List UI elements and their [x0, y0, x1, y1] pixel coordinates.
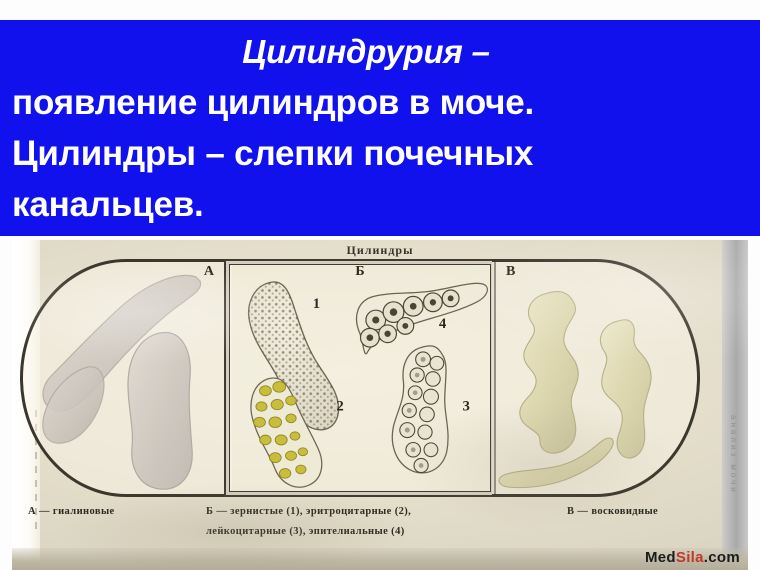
panels-group: А — [28, 259, 688, 497]
panel-c: В — [496, 259, 688, 497]
svg-text:1: 1 — [313, 296, 320, 312]
watermark-part-2: Sila — [676, 549, 704, 566]
scanned-figure: анализ мочи Цилиндры А — [12, 240, 748, 570]
banner-line-4: канальцев. — [12, 179, 748, 230]
hyaline-casts-drawing — [28, 259, 224, 497]
spine-text: анализ мочи — [729, 415, 738, 495]
page-bottom-shadow — [12, 548, 748, 570]
caption-a: А — гиалиновые — [28, 506, 115, 517]
panel-b: Б — [224, 259, 496, 497]
caption-b-line2: лейкоцитарные (3), эпителиальные (4) — [206, 526, 405, 537]
waxy-casts-drawing — [496, 259, 688, 497]
watermark-part-3: .com — [704, 549, 740, 566]
watermark: MedSila.com — [645, 549, 740, 566]
plate-title: Цилиндры — [12, 243, 748, 258]
caption-c: В — восковидные — [567, 506, 658, 517]
svg-text:4: 4 — [439, 316, 447, 332]
svg-text:2: 2 — [336, 398, 343, 414]
caption-b-line1: Б — зернистые (1), эритроцитарные (2), — [206, 506, 411, 517]
banner-line-3: Цилиндры – слепки почечных — [12, 128, 748, 179]
watermark-part-1: Med — [645, 549, 676, 566]
banner-line-1: Цилиндрурия – — [12, 26, 748, 77]
panel-a: А — [28, 259, 224, 497]
svg-text:3: 3 — [462, 398, 469, 414]
figure-caption: А — гиалиновые Б — зернистые (1), эритро… — [12, 502, 748, 548]
title-banner: Цилиндрурия – появление цилиндров в моче… — [0, 20, 760, 236]
granular-casts-drawing: 1 — [226, 261, 494, 495]
banner-line-2: появление цилиндров в моче. — [12, 77, 748, 128]
slide: Цилиндрурия – появление цилиндров в моче… — [0, 0, 760, 570]
